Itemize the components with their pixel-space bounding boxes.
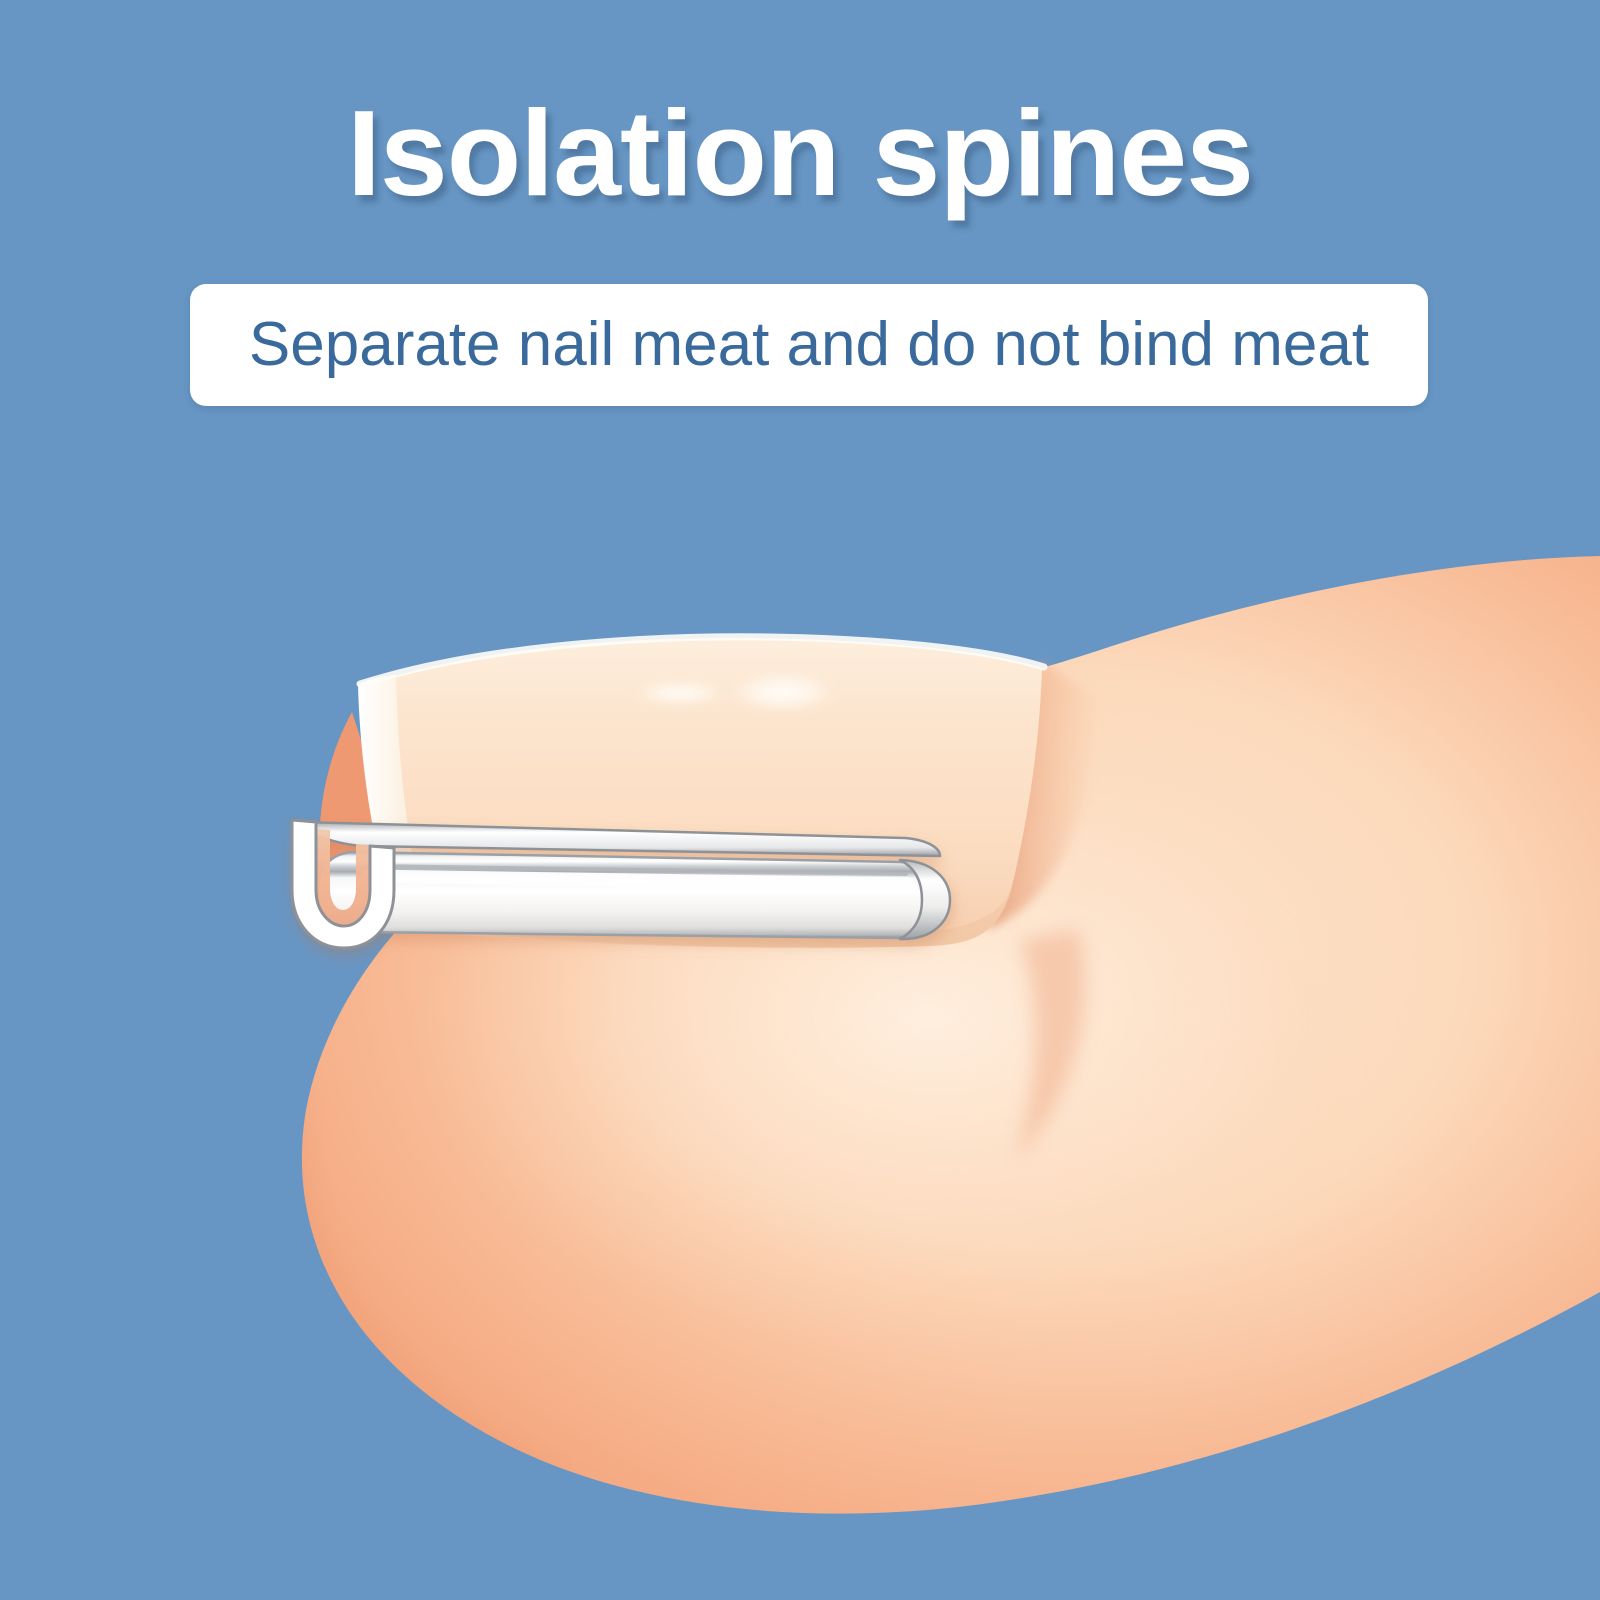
illustration-finger-nail-spine <box>0 0 1600 1600</box>
poster-canvas: Isolation spines Separate nail meat and … <box>0 0 1600 1600</box>
spine-specular-highlight <box>368 876 908 884</box>
isolation-spine <box>292 820 950 948</box>
nail-highlight-large <box>728 672 838 712</box>
subtitle-banner: Separate nail meat and do not bind meat <box>190 284 1428 406</box>
page-title: Isolation spines <box>0 92 1600 214</box>
subtitle-text: Separate nail meat and do not bind meat <box>249 314 1369 376</box>
nail-highlight-small <box>632 681 728 705</box>
